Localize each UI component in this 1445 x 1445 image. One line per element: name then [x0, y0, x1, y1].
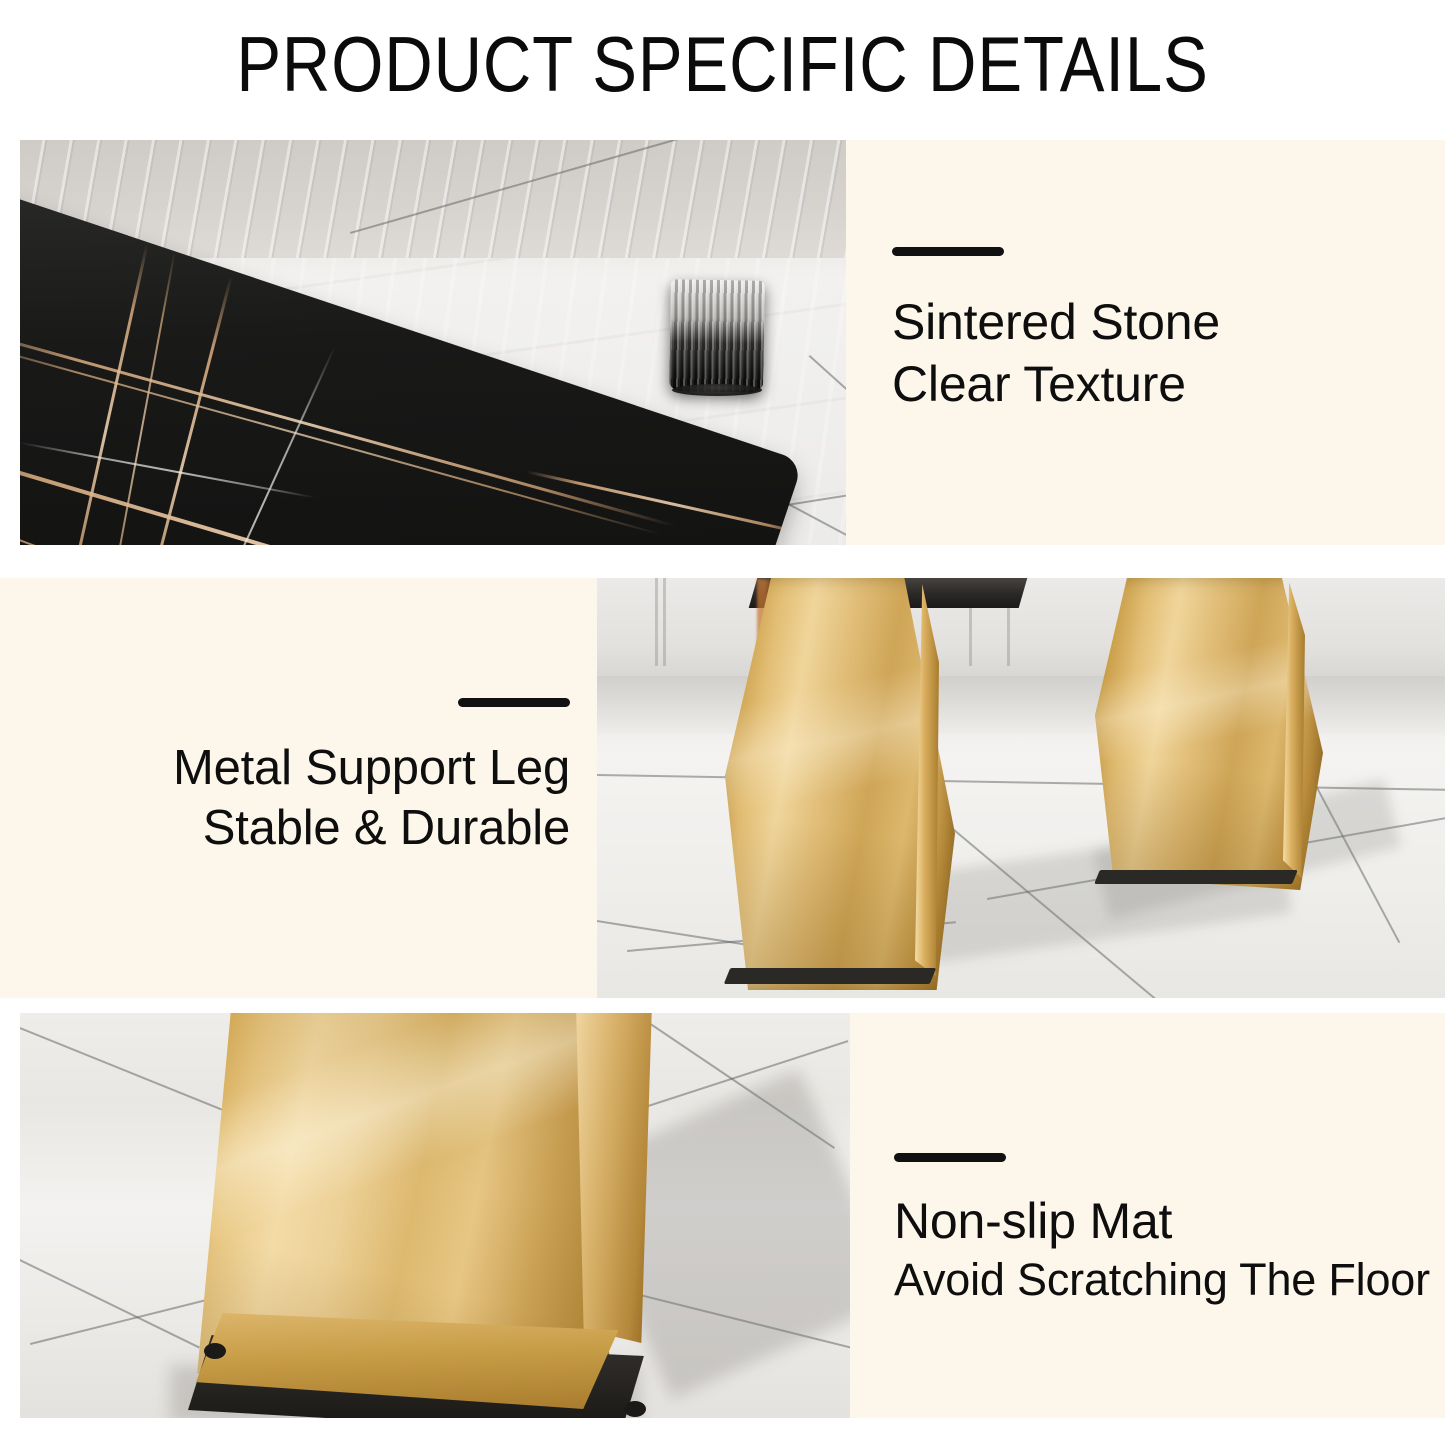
caption-rule — [892, 247, 1004, 256]
caption-block-metal-support-leg: Metal Support Leg Stable & Durable — [0, 578, 597, 998]
ribbed-glass-vase — [669, 279, 765, 393]
vase-base-shadow — [672, 384, 762, 396]
product-photo-non-slip-mat — [20, 1013, 850, 1418]
product-photo-sintered-stone — [20, 140, 846, 545]
caption-line-secondary: Clear Texture — [892, 353, 1445, 415]
wall-panel-line — [663, 578, 666, 666]
wall-panel-line — [655, 578, 658, 666]
caption-rule — [458, 698, 570, 707]
stone-vein — [20, 442, 314, 498]
mat-corner-foot — [204, 1343, 226, 1359]
caption-line-primary: Sintered Stone — [892, 291, 1445, 353]
caption-rule — [894, 1153, 1006, 1162]
caption-line-primary: Metal Support Leg — [0, 738, 570, 798]
caption-line-secondary: Stable & Durable — [0, 798, 570, 858]
caption-line-secondary: Avoid Scratching The Floor — [894, 1251, 1445, 1309]
gold-leg-edge-highlight — [576, 1013, 652, 1343]
stone-vein — [526, 470, 804, 537]
non-slip-foot-plate — [724, 968, 936, 984]
stone-vein — [20, 434, 662, 545]
caption-block-sintered-stone: Sintered Stone Clear Texture — [846, 140, 1445, 545]
page-title: PRODUCT SPECIFIC DETAILS — [101, 22, 1344, 106]
caption-line-primary: Non-slip Mat — [894, 1191, 1445, 1251]
product-photo-metal-support-leg — [597, 578, 1445, 998]
non-slip-foot-plate — [1094, 870, 1298, 884]
detail-panel-metal-support-leg: Metal Support Leg Stable & Durable — [0, 578, 1445, 998]
detail-panel-sintered-stone: Sintered Stone Clear Texture — [20, 140, 1445, 545]
caption-block-non-slip-mat: Non-slip Mat Avoid Scratching The Floor — [850, 1013, 1445, 1418]
stone-vein — [189, 347, 336, 545]
floor-reflection-band — [597, 676, 1445, 734]
detail-panel-non-slip-mat: Non-slip Mat Avoid Scratching The Floor — [20, 1013, 1445, 1418]
mat-corner-foot — [624, 1401, 646, 1417]
